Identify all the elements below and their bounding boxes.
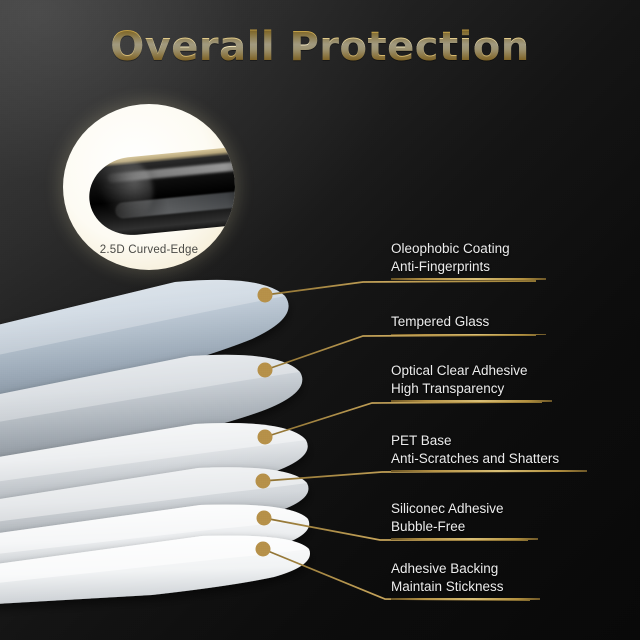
leader-line-oleophobic-coating (265, 281, 536, 295)
callout-underline (391, 400, 552, 402)
curved-edge-inset: 2.5D Curved-Edge (63, 104, 235, 270)
dot-adhesive-backing (256, 542, 271, 557)
callout-optical-clear-adhesive: Optical Clear Adhesive High Transparency (391, 362, 552, 402)
callout-siliconec-adhesive: Siliconec Adhesive Bubble-Free (391, 500, 538, 540)
page-title: Overall Protection (0, 24, 640, 70)
callout-line1: PET Base (391, 432, 587, 450)
callout-line2: Maintain Stickness (391, 578, 540, 596)
callout-tempered-glass: Tempered Glass (391, 313, 546, 335)
callout-adhesive-backing: Adhesive Backing Maintain Stickness (391, 560, 540, 600)
dot-pet-base (256, 474, 271, 489)
callout-line2: Anti-Fingerprints (391, 258, 546, 276)
dot-tempered-glass (258, 363, 273, 378)
callout-underline (391, 334, 546, 336)
callout-underline (391, 470, 587, 472)
dot-oleophobic-coating (258, 288, 273, 303)
callout-line1: Tempered Glass (391, 313, 546, 331)
leader-line-pet-base (263, 471, 578, 481)
callout-line1: Adhesive Backing (391, 560, 540, 578)
callout-line2: High Transparency (391, 380, 552, 398)
dot-siliconec-adhesive (257, 511, 272, 526)
page-title-text: Overall Protection (110, 24, 530, 70)
curved-edge-label: 2.5D Curved-Edge (63, 244, 235, 256)
callout-line1: Optical Clear Adhesive (391, 362, 552, 380)
callout-underline (391, 278, 546, 280)
callout-underline (391, 538, 538, 540)
dot-optical-clear-adhesive (258, 430, 273, 445)
callout-pet-base: PET Base Anti-Scratches and Shatters (391, 432, 587, 472)
callout-line2: Bubble-Free (391, 518, 538, 536)
callout-line2: Anti-Scratches and Shatters (391, 450, 587, 468)
callout-line1: Oleophobic Coating (391, 240, 546, 258)
callout-oleophobic-coating: Oleophobic Coating Anti-Fingerprints (391, 240, 546, 280)
callout-underline (391, 598, 540, 600)
callout-line1: Siliconec Adhesive (391, 500, 538, 518)
product-infographic: Overall Protection 2.5D Curved-Edge Oleo… (0, 0, 640, 640)
